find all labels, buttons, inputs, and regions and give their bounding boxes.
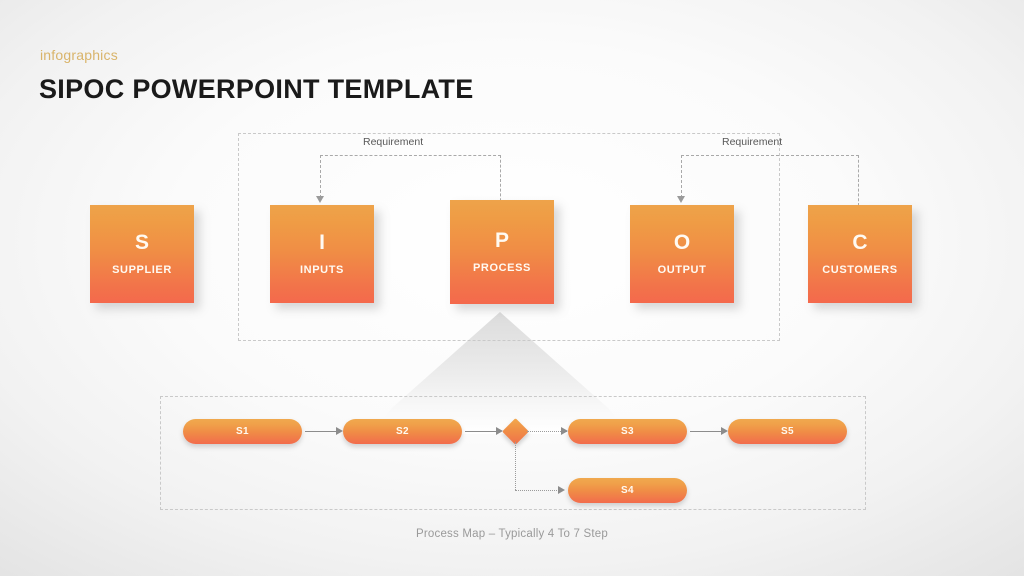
arrow-s3-s5 bbox=[721, 427, 728, 435]
sipoc-letter-i: I bbox=[319, 232, 325, 253]
requirement-label-right: Requirement bbox=[722, 136, 782, 148]
sipoc-label-output: OUTPUT bbox=[658, 264, 707, 276]
process-map-caption: Process Map – Typically 4 To 7 Step bbox=[0, 528, 1024, 540]
process-step-s4-label: S4 bbox=[621, 485, 634, 496]
connector-decision-s4-horizontal bbox=[515, 490, 561, 491]
sipoc-letter-p: P bbox=[495, 230, 509, 251]
arrow-s1-s2 bbox=[336, 427, 343, 435]
sipoc-letter-o: O bbox=[674, 232, 690, 253]
sipoc-box-customers[interactable]: C CUSTOMERS bbox=[808, 205, 912, 303]
kicker-text: infographics bbox=[40, 47, 118, 63]
slide-canvas: infographics SIPOC POWERPOINT TEMPLATE R… bbox=[0, 0, 1024, 576]
process-step-s3[interactable]: S3 bbox=[568, 419, 687, 444]
connector-s2-decision bbox=[465, 431, 497, 432]
page-title: SIPOC POWERPOINT TEMPLATE bbox=[39, 74, 474, 105]
sipoc-label-inputs: INPUTS bbox=[300, 264, 344, 276]
process-step-s2[interactable]: S2 bbox=[343, 419, 462, 444]
requirement-label-left: Requirement bbox=[363, 136, 423, 148]
process-step-s3-label: S3 bbox=[621, 426, 634, 437]
process-step-s5-label: S5 bbox=[781, 426, 794, 437]
arrow-decision-s4 bbox=[558, 486, 565, 494]
process-step-s1[interactable]: S1 bbox=[183, 419, 302, 444]
sipoc-letter-c: C bbox=[852, 232, 867, 253]
sipoc-box-output[interactable]: O OUTPUT bbox=[630, 205, 734, 303]
process-step-s4[interactable]: S4 bbox=[568, 478, 687, 503]
sipoc-label-supplier: SUPPLIER bbox=[112, 264, 172, 276]
connector-decision-s4-vertical bbox=[515, 442, 516, 490]
process-step-s1-label: S1 bbox=[236, 426, 249, 437]
sipoc-box-supplier[interactable]: S SUPPLIER bbox=[90, 205, 194, 303]
connector-s1-s2 bbox=[305, 431, 337, 432]
connector-s3-s5 bbox=[690, 431, 722, 432]
sipoc-box-inputs[interactable]: I INPUTS bbox=[270, 205, 374, 303]
process-step-s2-label: S2 bbox=[396, 426, 409, 437]
arrow-decision-s3 bbox=[561, 427, 568, 435]
sipoc-letter-s: S bbox=[135, 232, 149, 253]
process-map-dashed-frame bbox=[160, 396, 866, 510]
sipoc-box-process[interactable]: P PROCESS bbox=[450, 200, 554, 304]
process-step-s5[interactable]: S5 bbox=[728, 419, 847, 444]
sipoc-label-customers: CUSTOMERS bbox=[822, 264, 897, 276]
sipoc-label-process: PROCESS bbox=[473, 262, 531, 274]
